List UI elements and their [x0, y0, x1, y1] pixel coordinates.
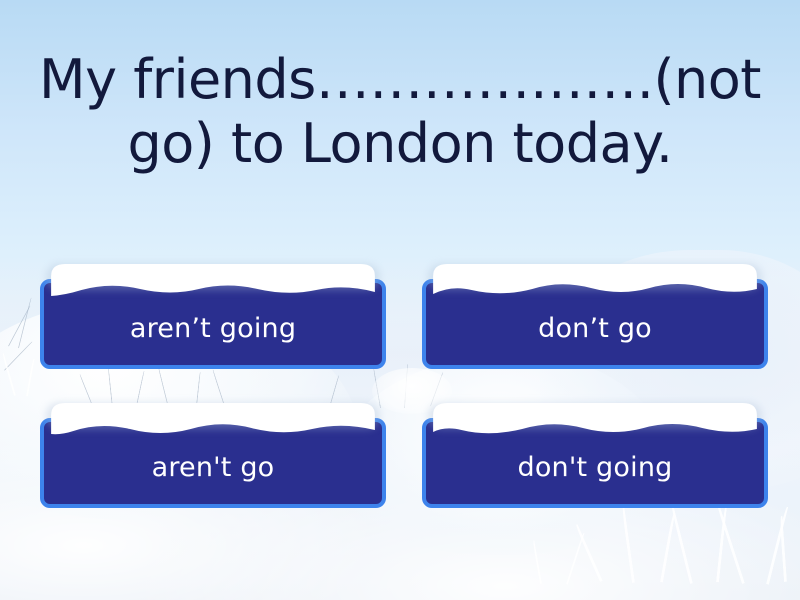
answer-option-4[interactable]: don't going [422, 418, 768, 508]
answer-option-label: don't going [518, 444, 673, 483]
answer-option-label: aren't go [152, 444, 275, 483]
answer-option-label: don’t go [538, 305, 652, 344]
answer-option-2[interactable]: don’t go [422, 279, 768, 369]
frost-plant-9 [566, 533, 585, 585]
twig-left-1 [8, 305, 30, 346]
grass-left-1 [2, 353, 16, 396]
answer-cell: don’t go [422, 262, 768, 369]
twig-left-3 [4, 341, 33, 370]
twig-left-2 [18, 298, 32, 349]
grass-left-2 [26, 359, 35, 397]
answer-row: aren’t going don’t go [40, 262, 768, 369]
answer-option-3[interactable]: aren't go [40, 418, 386, 508]
answer-option-1[interactable]: aren’t going [40, 279, 386, 369]
answer-cell: aren’t going [40, 262, 386, 369]
answer-options: aren’t going don’t go [40, 262, 768, 540]
answer-row: aren't go don't going [40, 401, 768, 508]
answer-cell: aren't go [40, 401, 386, 508]
question-text: My friends……………….(not go) to London toda… [0, 48, 800, 175]
answer-cell: don't going [422, 401, 768, 508]
frost-plant-8 [779, 516, 787, 582]
answer-option-label: aren’t going [130, 305, 296, 344]
frost-plant-10 [532, 540, 542, 584]
quiz-slide: My friends……………….(not go) to London toda… [0, 0, 800, 600]
frost-plant-7 [766, 506, 788, 584]
